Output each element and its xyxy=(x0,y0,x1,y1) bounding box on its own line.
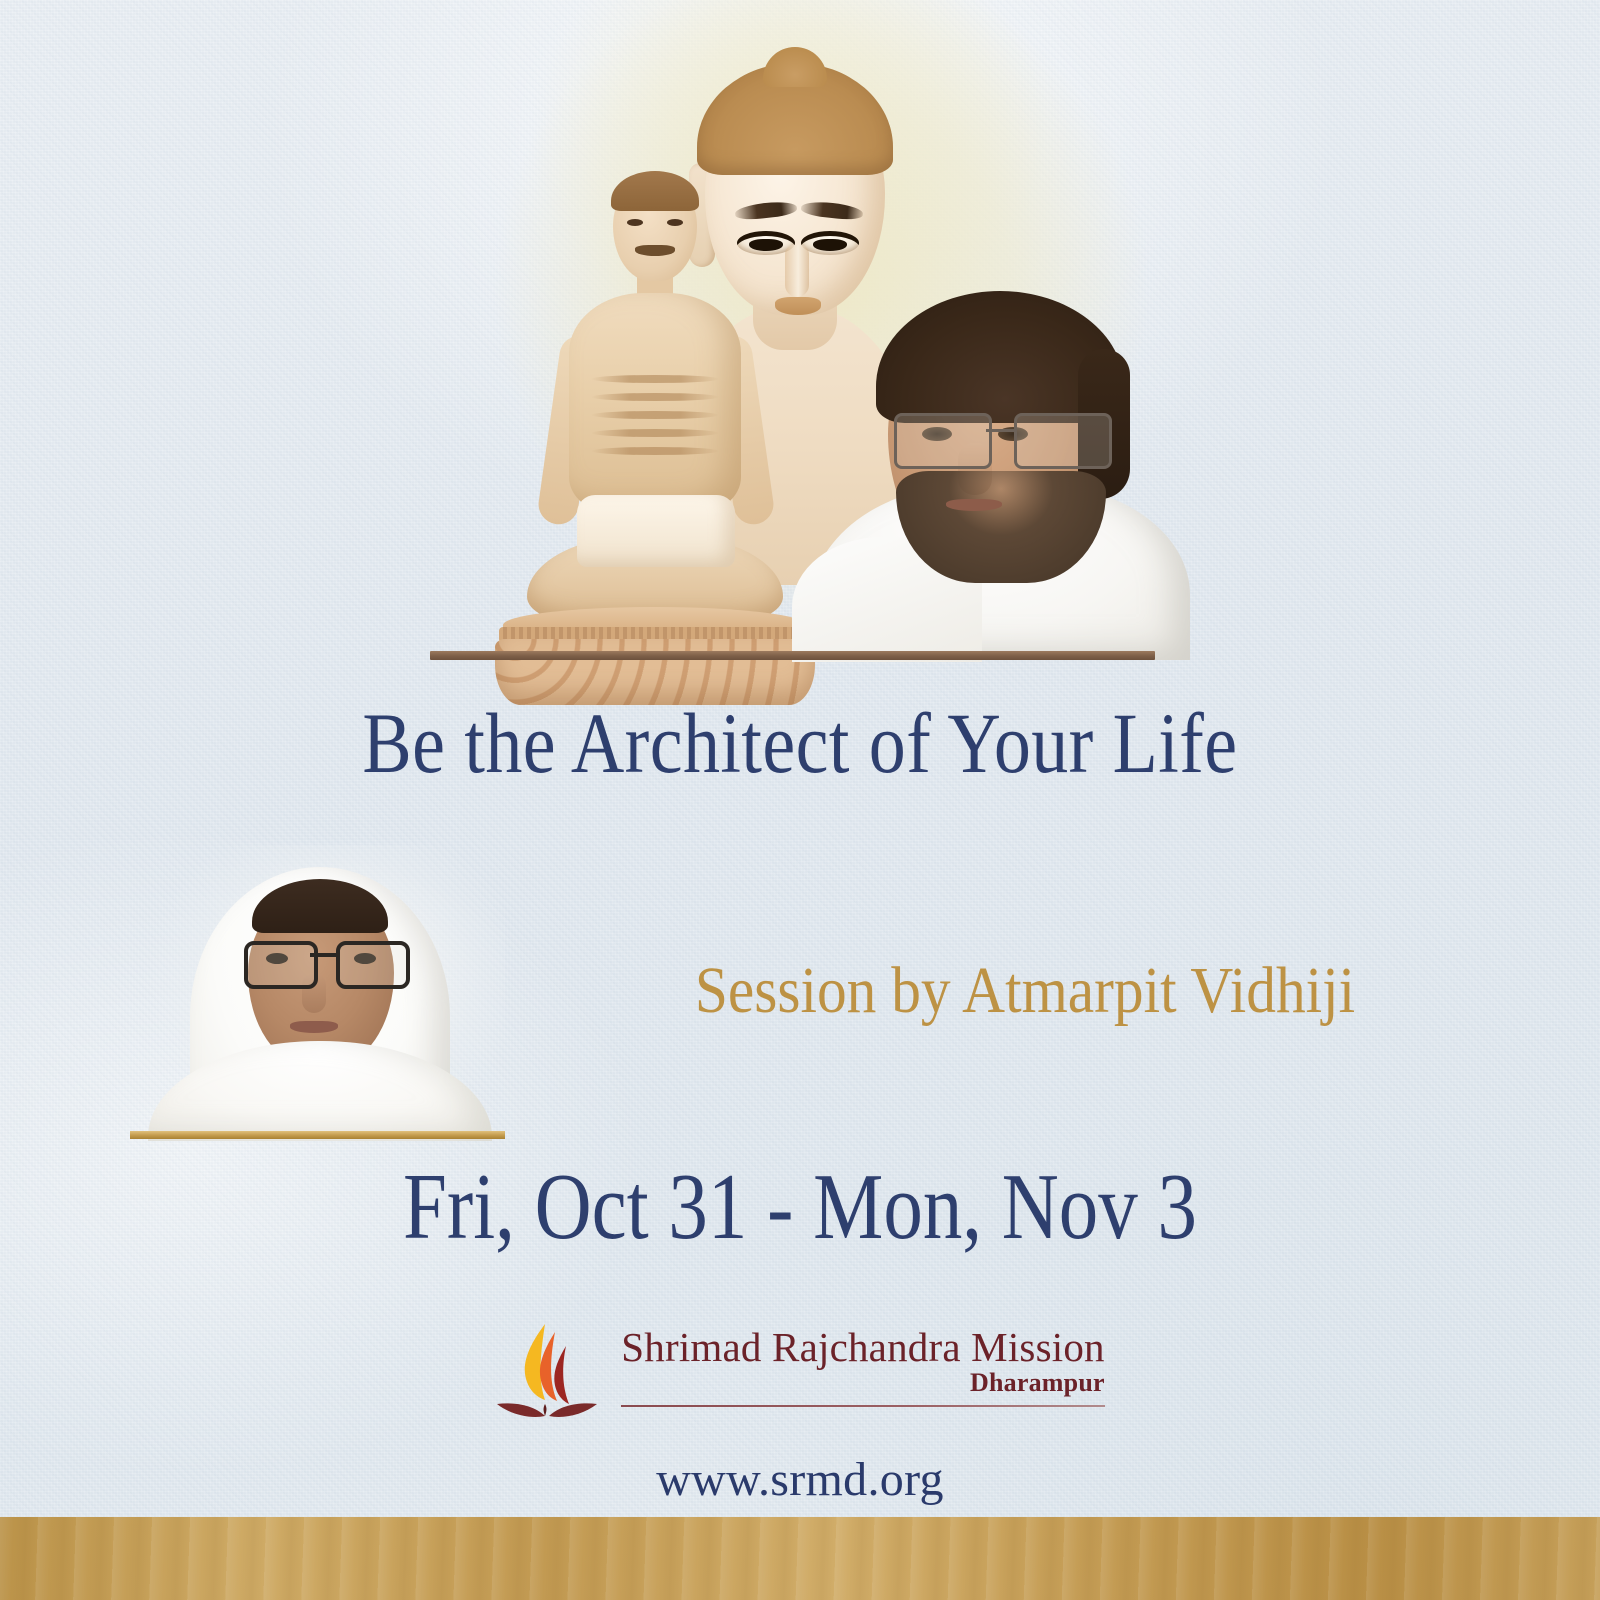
website-url[interactable]: www.srmd.org xyxy=(656,1456,944,1504)
ascetic-eye-right xyxy=(667,219,683,226)
logo-row: Shrimad Rajchandra Mission Dharampur xyxy=(495,1320,1104,1430)
brand-text: Shrimad Rajchandra Mission Dharampur xyxy=(621,1320,1104,1407)
speaker-glasses-icon xyxy=(244,941,402,983)
guru-lens-left xyxy=(894,413,992,469)
ascetic-eye-left xyxy=(627,219,643,226)
bottom-gold-band xyxy=(0,1517,1600,1600)
speaker-mouth xyxy=(290,1021,338,1033)
session-subtitle: Session by Atmarpit Vidhiji xyxy=(553,958,1498,1024)
guru-glasses-icon xyxy=(890,413,1112,467)
ascetic-moustache xyxy=(635,245,675,256)
speaker-baseline-rule xyxy=(130,1131,505,1139)
page-title: Be the Architect of Your Life xyxy=(112,700,1488,786)
guru-mouth xyxy=(946,499,1002,511)
speaker-lens-right xyxy=(336,941,410,989)
guru-glasses-bridge xyxy=(986,429,1016,432)
guru-hair xyxy=(876,291,1124,423)
ascetic-loincloth xyxy=(577,495,735,567)
srmd-flame-logo-icon xyxy=(495,1320,599,1430)
speaker-glasses-bridge xyxy=(310,953,336,957)
organization-name: Shrimad Rajchandra Mission xyxy=(621,1326,1104,1369)
guru-lens-right xyxy=(1014,413,1112,469)
brand-divider xyxy=(621,1405,1104,1407)
speaker-lens-left xyxy=(244,941,318,989)
ascetic-ribcage xyxy=(591,375,719,471)
organization-lockup: Shrimad Rajchandra Mission Dharampur www… xyxy=(0,1320,1600,1504)
event-poster: Be the Architect of Your Life Session by… xyxy=(0,0,1600,1600)
guru-portrait-image xyxy=(810,285,1190,655)
speaker-portrait xyxy=(130,845,505,1137)
organization-location: Dharampur xyxy=(621,1369,1104,1398)
ascetic-hair xyxy=(611,171,699,211)
event-date-range: Fri, Oct 31 - Mon, Nov 3 xyxy=(128,1160,1472,1254)
hero-baseline-rule xyxy=(430,651,1155,660)
hero-imagery xyxy=(355,0,1235,660)
ascetic-figure-image xyxy=(465,175,845,645)
